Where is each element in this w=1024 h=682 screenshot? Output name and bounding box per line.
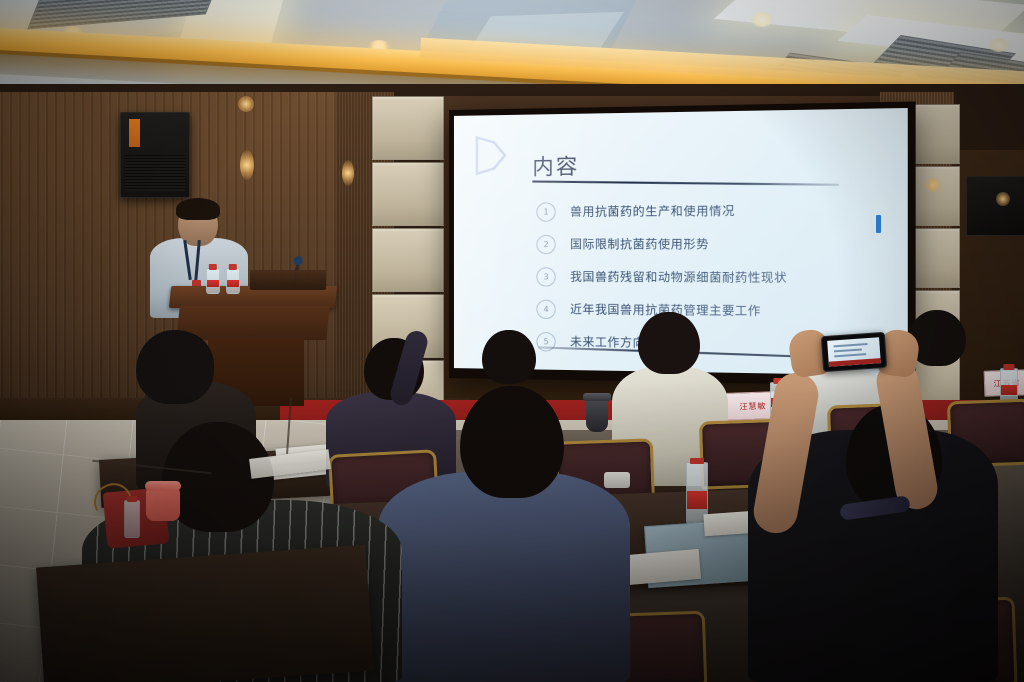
thermos-lid <box>145 481 181 491</box>
parallelogram-outline-logo-icon <box>474 133 508 178</box>
screen-edge-indicator <box>876 215 881 233</box>
bottle-cap <box>209 264 217 270</box>
table-front-row <box>36 545 374 682</box>
slide-list-item: 4 近年我国兽用抗菌药管理主要工作 <box>536 295 887 327</box>
water-bottle <box>124 500 140 538</box>
wall-light <box>238 96 254 112</box>
speaker-label <box>129 119 140 147</box>
smartphone-stage-strip <box>829 358 881 367</box>
bottle-cap <box>1003 364 1014 370</box>
slide-item-text: 我国兽药残留和动物源细菌耐药性现状 <box>570 268 787 285</box>
podium-face <box>176 306 330 340</box>
slide-item-text: 国际限制抗菌药使用形势 <box>570 236 709 253</box>
water-bottle <box>226 268 240 294</box>
slide-list-item: 2 国际限制抗菌药使用形势 <box>536 229 887 259</box>
bottle-cap <box>229 264 237 270</box>
wall-light <box>926 178 940 192</box>
attendee-head <box>460 386 564 498</box>
wall-light <box>342 160 354 186</box>
attendee-torso <box>378 472 630 682</box>
speaker-grill <box>125 153 185 191</box>
placard-text: 汪慧敏 <box>739 400 766 412</box>
slide-list-item: 3 我国兽药残留和动物源细菌耐药性现状 <box>536 262 887 293</box>
slide-item-number: 4 <box>536 299 555 318</box>
drink-cup-small <box>604 472 630 488</box>
bottle-label <box>227 280 239 287</box>
wall-light <box>240 150 254 180</box>
presenter-hair <box>176 198 220 220</box>
wall-speaker-right <box>966 176 1024 236</box>
smartphone-screen <box>827 337 881 367</box>
bottle-label <box>687 491 707 509</box>
slide-item-number: 2 <box>536 234 555 253</box>
bottle-label <box>207 280 219 287</box>
cup-lid <box>583 393 611 401</box>
water-bottle <box>206 268 220 294</box>
slide-rule-top <box>532 181 839 186</box>
attendee-head <box>638 312 700 374</box>
wall-light <box>996 192 1010 206</box>
conference-room-photo: 内容 1 兽用抗菌药的生产和使用情况 2 国际限制抗菌药使用形势 3 我国兽药残… <box>0 0 1024 682</box>
slide-item-number: 1 <box>536 202 555 221</box>
bottle-cap <box>127 496 137 502</box>
bottle-cap <box>690 458 704 464</box>
wall-speaker-left <box>120 112 190 198</box>
attendee-head <box>482 330 536 384</box>
pink-thermos <box>146 487 180 521</box>
slide-item-number: 3 <box>536 267 555 286</box>
ceiling-downlight <box>988 38 1010 52</box>
slide-item-text: 兽用抗菌药的生产和使用情况 <box>570 202 735 219</box>
drink-cup <box>586 398 608 432</box>
podium-objects <box>250 270 326 290</box>
attendee-head <box>136 330 214 404</box>
slide-list-item: 1 兽用抗菌药的生产和使用情况 <box>536 195 887 226</box>
ceiling-downlight <box>750 12 774 27</box>
smartphone[interactable] <box>821 332 887 372</box>
bottle-label <box>1001 385 1017 395</box>
paper-document <box>625 549 701 585</box>
slide-title: 内容 <box>532 150 579 181</box>
